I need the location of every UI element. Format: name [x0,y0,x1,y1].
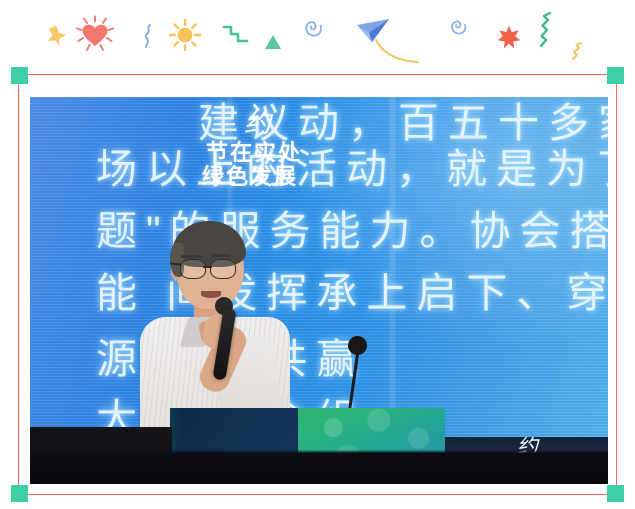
doodle-strip [0,0,635,74]
heart-burst-icon [75,14,115,54]
frame-corner-bottom-right [607,485,624,502]
screen-text-line: 场以上的活动，就是为了整合 [96,135,608,195]
triangle-icon [263,33,283,51]
star-icon [44,24,68,48]
spiral-small-icon [446,18,468,40]
frame-corner-top-left [11,67,28,84]
speaker-mouth [201,291,221,298]
squiggle-icon [142,24,156,48]
plane-trail-icon [374,38,444,66]
zigzag-green-icon [222,24,250,46]
zigzag-yellow-icon [571,42,593,62]
star-red-icon [496,24,522,50]
speaker-eyebrow-left [181,255,202,258]
conference-speaker-photo: 建议动，百五十多家企 场以上的活动，就是为了整合 题"的服务能力。协会搭建的节 … [30,97,608,484]
speaker-eyebrow-right [211,254,231,257]
sun-icon [166,16,204,54]
stage-foreground [30,449,608,484]
podium-microphone-head [348,336,367,355]
spiral-icon [300,18,324,42]
frame-corner-bottom-left [11,485,28,502]
podium-slogan-line-2: 绿色发展 [202,159,298,191]
podium-logo: 约 [226,109,286,137]
frame-corner-top-right [607,67,624,84]
eyeglasses-lens-left [180,259,206,279]
eyeglasses-bridge [203,266,212,268]
zigzag-green2-icon [538,12,566,48]
eyeglasses-lens-right [210,259,236,279]
